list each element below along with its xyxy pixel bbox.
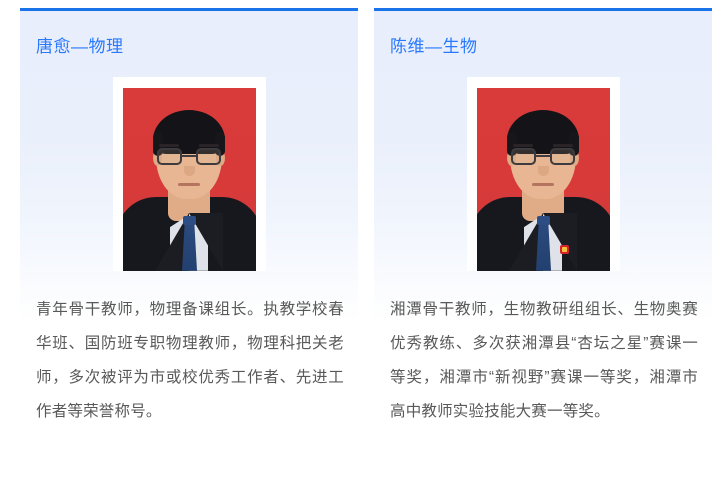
portrait-eyebrow-left-shape [159, 144, 179, 147]
teacher-portrait-photo [477, 88, 610, 271]
portrait-eyebrow-right-shape [553, 144, 573, 147]
portrait-necktie-knot-shape [183, 216, 196, 225]
portrait-lens-right-shape [550, 148, 575, 165]
teacher-bio-text: 青年骨干教师，物理备课组长。执教学校春华班、国防班专职物理教师，物理科把关老师，… [36, 293, 344, 429]
portrait-nose-shape [184, 166, 195, 176]
portrait-eyebrow-right-shape [199, 144, 219, 147]
portrait-mouth-shape [532, 183, 554, 186]
portrait-lens-right-shape [196, 148, 221, 165]
teacher-card[interactable]: 陈维—生物 [374, 8, 712, 496]
teacher-photo-frame [467, 77, 620, 271]
portrait-necktie-knot-shape [537, 216, 550, 225]
portrait-nose-shape [538, 166, 549, 176]
teacher-photo-frame [113, 77, 266, 271]
portrait-lens-left-shape [157, 148, 182, 165]
party-emblem-lapel-pin-icon [560, 245, 569, 254]
teacher-bio-text: 湘潭骨干教师，生物教研组组长、生物奥赛优秀教练、多次获湘潭县“杏坛之星”赛课一等… [390, 293, 698, 429]
portrait-glasses-bridge-shape [182, 155, 196, 157]
portrait-eyeglasses-shape [511, 148, 575, 165]
teacher-name-subject-title: 陈维—生物 [390, 35, 478, 59]
portrait-eyebrow-left-shape [513, 144, 533, 147]
teacher-profile-board: 唐愈—物理 [0, 0, 720, 496]
teacher-portrait-photo [123, 88, 256, 271]
teacher-name-subject-title: 唐愈—物理 [36, 35, 124, 59]
portrait-mouth-shape [178, 183, 200, 186]
portrait-eyeglasses-shape [157, 148, 221, 165]
portrait-lens-left-shape [511, 148, 536, 165]
portrait-glasses-bridge-shape [536, 155, 550, 157]
teacher-card[interactable]: 唐愈—物理 [20, 8, 358, 496]
